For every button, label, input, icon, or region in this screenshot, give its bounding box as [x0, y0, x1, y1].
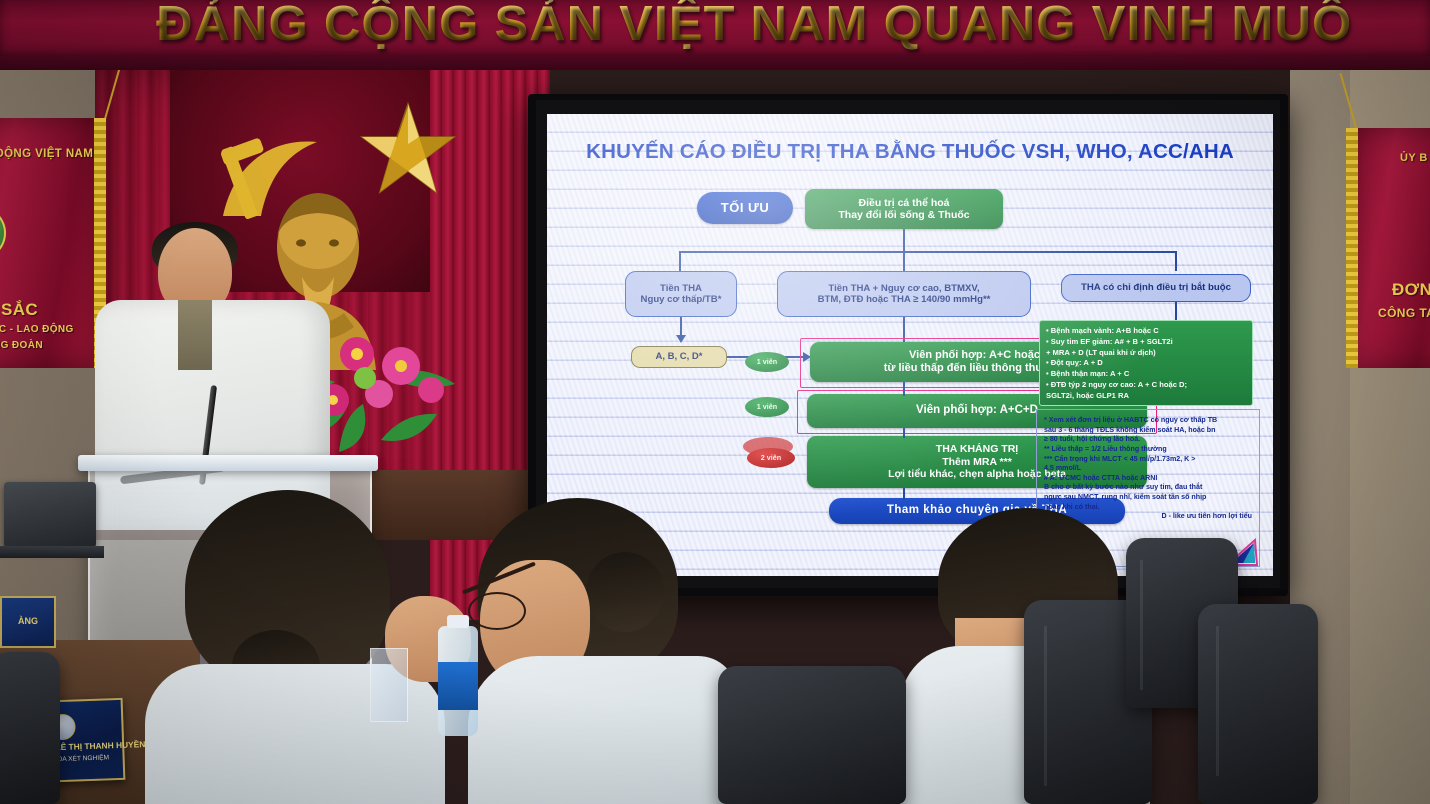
laptop-screen	[4, 482, 96, 548]
audience-glasses-body	[468, 656, 738, 804]
banner-bottom-edge	[0, 56, 1430, 70]
node-tien-tha-hr-line2: BTM, ĐTĐ hoặc THA ≥ 140/90 mmHg**	[818, 294, 991, 305]
connector-to-right-branch	[1175, 251, 1177, 271]
pill-1-vien-step1: 1 viên	[745, 352, 789, 372]
conference-room-photo: N LAO ĐỘNG VIỆT NAM ẶNG XUẤT SẮC HÀO CNV…	[0, 0, 1430, 804]
indication-2: + MRA + D (LT quai khi ứ dịch)	[1046, 348, 1246, 359]
indication-4: • Bệnh thận mạn: A + C	[1046, 369, 1246, 380]
connector-right-down	[1175, 302, 1177, 322]
connector-step3-step4	[903, 488, 905, 500]
indication-6: SGLT2i, hoặc GLP1 RA	[1046, 391, 1246, 402]
node-dieu-tri-ca-the-hoa: Điều trị cá thể hoá Thay đổi lối sống & …	[805, 189, 1003, 229]
top-red-banner: ĐẢNG CỘNG SẢN VIỆT NAM QUANG VINH MUÔ	[0, 0, 1430, 60]
node-abcd: A, B, C, D*	[631, 346, 727, 368]
pennant-left-line1: N LAO ĐỘNG VIỆT NAM	[0, 148, 93, 160]
pennant-left-line3: XUẤT SẮC	[0, 300, 38, 320]
presentation-screen: KHUYẾN CÁO ĐIỀU TRỊ THA BẰNG THUỐC VSH, …	[547, 114, 1273, 576]
union-emblem-icon	[0, 206, 6, 260]
slide-title: KHUYẾN CÁO ĐIỀU TRỊ THA BẰNG THUỐC VSH, …	[559, 140, 1261, 164]
node-dieu-tri-line1: Điều trị cá thể hoá	[858, 197, 949, 209]
box-compelling-indications: • Bệnh mạch vành: A+B hoặc C • Suy tim E…	[1039, 320, 1253, 406]
pill-2-vien: 2 viên	[747, 448, 795, 468]
chair-far-left	[0, 652, 60, 804]
node-tha-compulsory: THA có chỉ định điều trị bắt buộc	[1061, 274, 1251, 302]
node-step3-line2: Thêm MRA ***	[942, 456, 1012, 468]
chair-seam-1	[1140, 560, 1143, 690]
indication-3: • Đột quỵ: A + D	[1046, 358, 1246, 369]
indication-1: • Suy tim EF giảm: A# + B + SGLT2i	[1046, 337, 1246, 348]
pennant-left-line4: HÀO CNVC - LAO ĐỘNG	[0, 324, 74, 335]
bottle-cap-center	[447, 615, 469, 628]
connector-to-mid-branch	[903, 251, 905, 271]
node-step3-line1: THA KHÁNG TRỊ	[936, 443, 1018, 455]
pennant-right-fringe	[1346, 128, 1358, 368]
audience-glasses-bun	[586, 552, 664, 632]
speaker-shirt-collar	[178, 300, 212, 370]
pennant-right: ỦY B ĐƠN CÔNG TA	[1352, 128, 1430, 368]
right-wood-panel	[1350, 0, 1430, 804]
pennant-right-line3: CÔNG TA	[1378, 306, 1430, 320]
laptop-keyboard	[0, 546, 104, 558]
node-tien-tha-line2: Nguy cơ thấp/TB*	[641, 294, 722, 305]
chair-center-right	[718, 666, 906, 804]
arrow-left-down-icon	[676, 335, 686, 343]
node-tien-tha-low-risk: Tiền THA Nguy cơ thấp/TB*	[625, 271, 737, 317]
node-toi-uu: TỐI ƯU	[697, 192, 793, 224]
eyeglasses-icon	[468, 592, 526, 630]
pennant-left-line5: ỔNG CÔNG ĐOÀN	[0, 340, 43, 351]
desk-nameplate-secondary-text: ÀNG	[2, 616, 54, 626]
bottle-label-center	[438, 662, 478, 710]
connector-left-down	[680, 317, 682, 337]
pennant-left: N LAO ĐỘNG VIỆT NAM ẶNG XUẤT SẮC HÀO CNV…	[0, 118, 100, 368]
node-tien-tha-hr-line1: Tiền THA + Nguy cơ cao, BTMXV,	[828, 283, 979, 294]
connector-step1-step2	[903, 382, 905, 396]
connector-horizontal-bus	[679, 251, 1177, 253]
connector-trunk-vertical	[903, 229, 905, 252]
desk-nameplate-secondary: ÀNG	[0, 596, 56, 648]
podium-top-edge	[78, 455, 378, 471]
pill-1-vien-step2: 1 viên	[745, 397, 789, 417]
node-tien-tha-line1: Tiền THA	[660, 283, 702, 294]
pennant-right-line2: ĐƠN	[1392, 280, 1430, 300]
banner-slogan-text: ĐẢNG CỘNG SẢN VIỆT NAM QUANG VINH MUÔ	[156, 0, 1430, 52]
indication-5: • ĐTĐ týp 2 nguy cơ cao: A + C hoặc D;	[1046, 380, 1246, 391]
chair-seam-2	[1216, 626, 1219, 776]
chair-seam-3	[1044, 626, 1047, 786]
indication-0: • Bệnh mạch vành: A+B hoặc C	[1046, 326, 1246, 337]
connector-step2-step3	[903, 428, 905, 438]
pennant-right-line1: ỦY B	[1400, 152, 1428, 164]
water-bottle-center	[438, 626, 478, 736]
drinking-glass	[370, 648, 408, 722]
node-step1-line1: Viên phối hợp: A+C hoặc D	[909, 349, 1051, 362]
node-dieu-tri-line2: Thay đổi lối sống & Thuốc	[838, 209, 969, 221]
connector-to-left-branch	[679, 251, 681, 271]
node-tien-tha-high-risk: Tiền THA + Nguy cơ cao, BTMXV, BTM, ĐTĐ …	[777, 271, 1031, 317]
